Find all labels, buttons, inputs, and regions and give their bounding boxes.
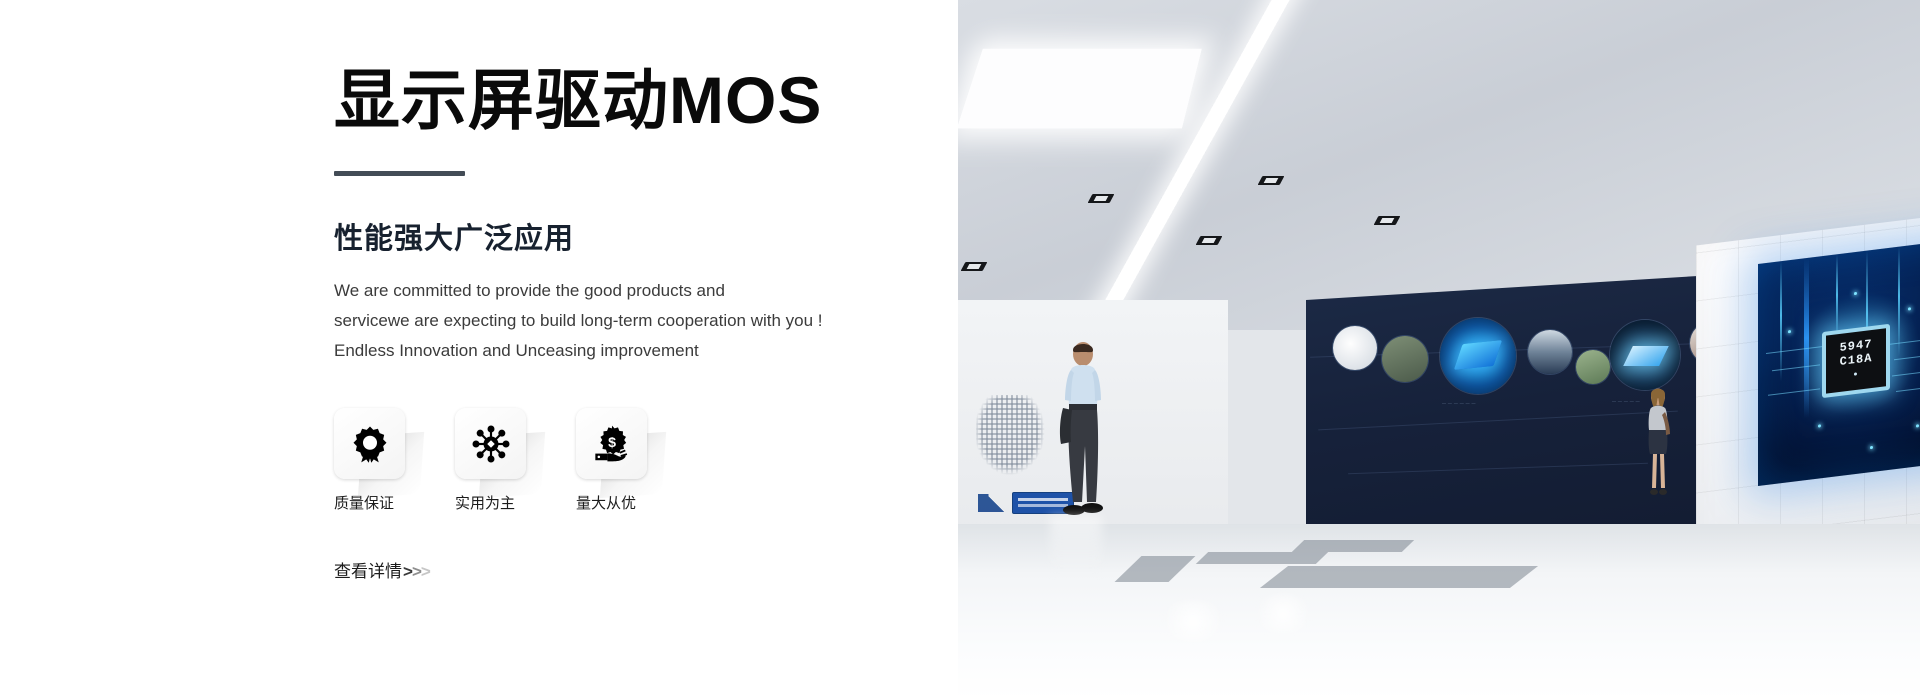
feature-item-quality[interactable]: 质量保证	[334, 408, 405, 513]
wall-medallion-chip	[1440, 318, 1516, 394]
hand-money-icon: $	[576, 408, 647, 479]
network-hub-icon	[455, 408, 526, 479]
view-details-link[interactable]: 查看详情 >>>	[334, 557, 430, 582]
wall-caption: — — — — —	[1612, 398, 1640, 403]
svg-text:$: $	[608, 435, 616, 451]
company-logo-mark	[978, 494, 1004, 512]
floor-inlay-strip	[1260, 566, 1538, 588]
led-display-screen: 5947 C18A ●	[1758, 236, 1920, 486]
description-paragraph: We are committed to provide the good pro…	[334, 276, 934, 366]
title-divider	[334, 171, 465, 176]
wall-medallion	[1382, 336, 1428, 382]
feature-icon-wrap	[455, 408, 526, 479]
chevron-right-icon-1: >	[403, 562, 412, 581]
chip-code-line-2: C18A	[1840, 352, 1873, 369]
description-line-1: We are committed to provide the good pro…	[334, 276, 934, 306]
page-title: 显示屏驱动MOS	[334, 64, 934, 137]
floor-inlay-strip	[1196, 552, 1328, 564]
hero-banner: 显示屏驱动MOS 性能强大广泛应用 We are committed to pr…	[0, 0, 1920, 700]
person-reflection	[1050, 516, 1102, 574]
world-map-graphic	[976, 395, 1060, 485]
banner-content: 显示屏驱动MOS 性能强大广泛应用 We are committed to pr…	[334, 0, 934, 582]
showroom-interior-photo: — — — — — — — — — — —	[958, 0, 1920, 700]
wall-medallion	[1528, 330, 1572, 374]
subtitle: 性能强大广泛应用	[334, 222, 934, 257]
floor-light-reflection	[1154, 600, 1232, 642]
showroom-floor	[958, 524, 1920, 700]
floor-light-reflection	[1248, 594, 1318, 634]
chevron-right-icon-3: >	[421, 562, 430, 581]
view-details-label: 查看详情	[334, 557, 402, 582]
feature-list: 质量保证	[334, 408, 934, 513]
feature-icon-wrap: $	[576, 408, 647, 479]
feature-icon-wrap	[334, 408, 405, 479]
description-line-3: Endless Innovation and Unceasing improve…	[334, 336, 934, 366]
chevron-right-icons: >>>	[403, 562, 430, 582]
person-woman	[1640, 386, 1676, 498]
skylight-panel	[958, 49, 1202, 129]
floor-inlay-strip	[1292, 540, 1414, 552]
wall-caption: — — — — — —	[1442, 400, 1476, 405]
person-man	[1052, 338, 1114, 518]
feature-item-bulk-discount[interactable]: $ 量大从优	[576, 408, 647, 513]
chevron-right-icon-2: >	[412, 562, 421, 581]
feature-item-practical[interactable]: 实用为主	[455, 408, 526, 513]
wall-medallion	[1333, 326, 1377, 370]
wall-medallion	[1576, 350, 1610, 384]
wall-medallion-chip	[1610, 320, 1680, 390]
chip-graphic: 5947 C18A ●	[1822, 324, 1890, 398]
award-medal-icon	[334, 408, 405, 479]
banner-text-pane: 显示屏驱动MOS 性能强大广泛应用 We are committed to pr…	[0, 0, 958, 700]
description-line-2: servicewe are expecting to build long-te…	[334, 306, 934, 336]
chip-dot-mark: ●	[1853, 369, 1858, 383]
